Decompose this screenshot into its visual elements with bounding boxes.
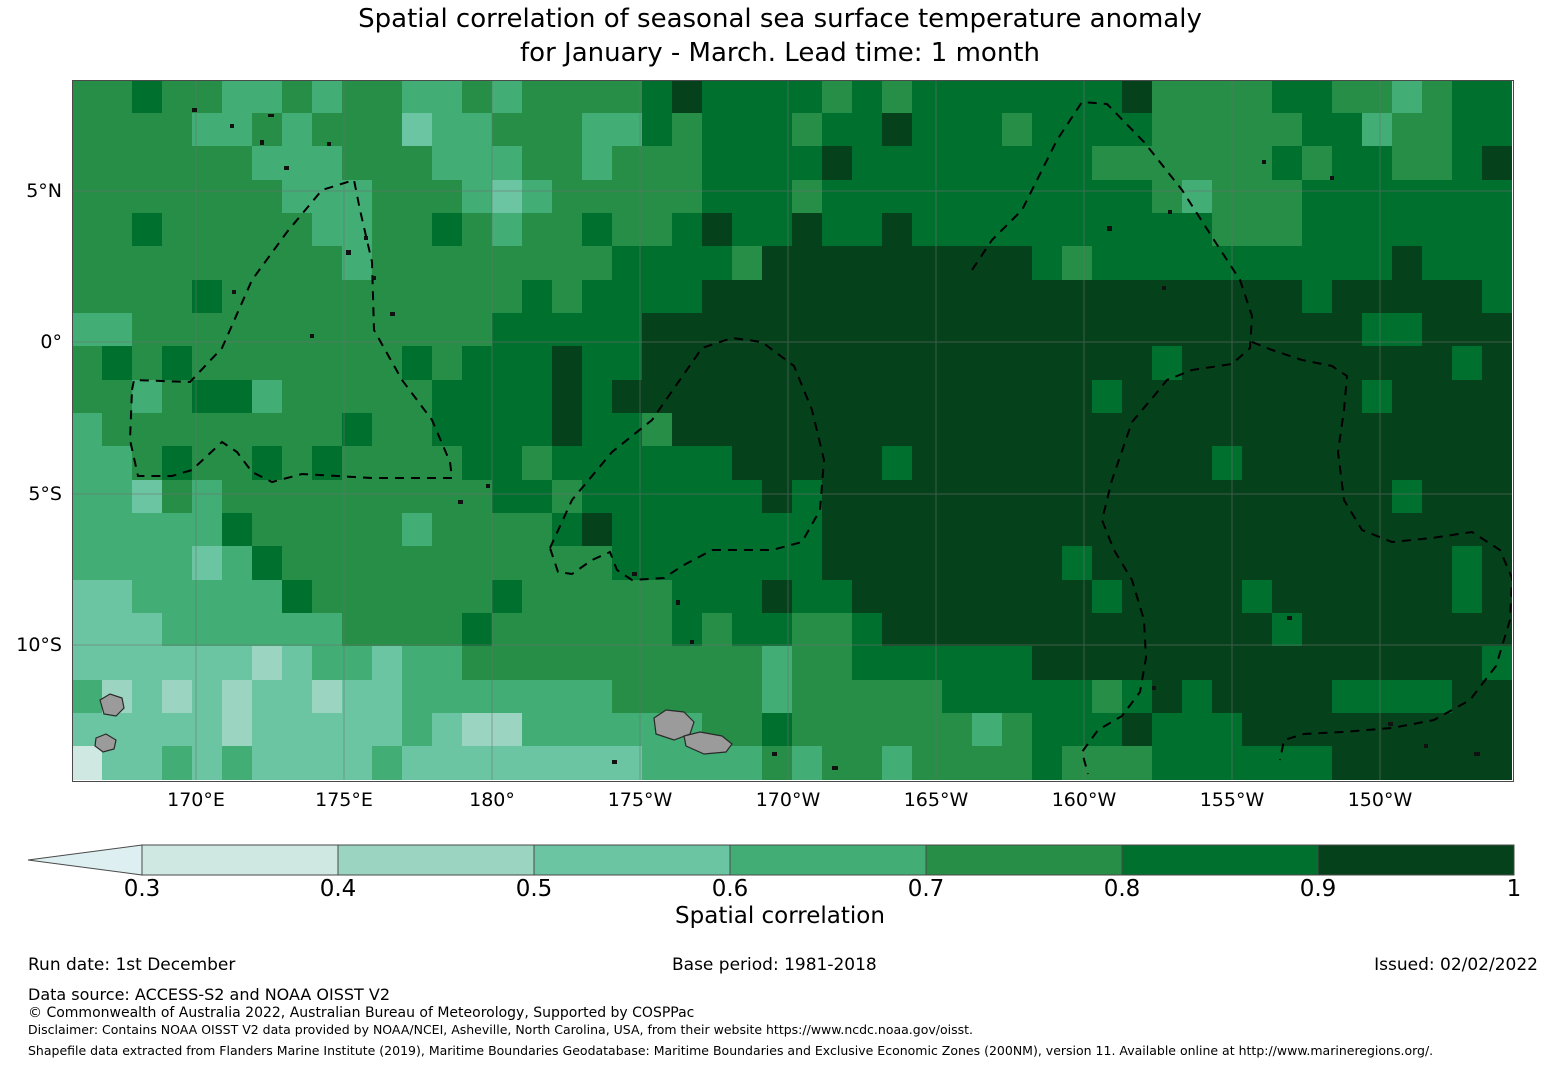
x-tick-label: 180° bbox=[469, 789, 515, 811]
colorbar-band bbox=[534, 845, 730, 875]
shapefile-attribution: Shapefile data extracted from Flanders M… bbox=[28, 1043, 1433, 1058]
correlation-raster bbox=[72, 80, 1512, 780]
colorbar-band bbox=[1318, 845, 1514, 875]
disclaimer-notice: Disclaimer: Contains NOAA OISST V2 data … bbox=[28, 1022, 973, 1037]
colorbar-tick-label: 0.8 bbox=[1104, 876, 1141, 902]
x-tick-label: 175°W bbox=[608, 789, 673, 811]
correlation-map bbox=[72, 80, 1512, 780]
issued-date: Issued: 02/02/2022 bbox=[1374, 955, 1538, 975]
colorbar-band bbox=[926, 845, 1122, 875]
colorbar-bands bbox=[28, 845, 1514, 875]
y-tick-label: 5°S bbox=[62, 483, 96, 505]
x-tick-label: 150°W bbox=[1348, 789, 1413, 811]
base-period: Base period: 1981-2018 bbox=[672, 955, 877, 975]
colorbar-tick-label: 1 bbox=[1507, 876, 1522, 902]
colorbar-band bbox=[142, 845, 338, 875]
page-title: Spatial correlation of seasonal sea surf… bbox=[0, 2, 1560, 70]
run-date: Run date: 1st December bbox=[28, 955, 235, 975]
colorbar-tick-label: 0.3 bbox=[124, 876, 161, 902]
colorbar-band bbox=[730, 845, 926, 875]
y-tick-label: 0° bbox=[62, 331, 84, 353]
y-tick-label: 10°S bbox=[62, 634, 108, 656]
colorbar-tick-label: 0.5 bbox=[516, 876, 553, 902]
colorbar-tick-label: 0.6 bbox=[712, 876, 749, 902]
data-source: Data source: ACCESS-S2 and NOAA OISST V2 bbox=[28, 985, 390, 1004]
x-tick-label: 170°W bbox=[756, 789, 821, 811]
colorbar-tick-label: 0.4 bbox=[320, 876, 357, 902]
x-tick-label: 165°W bbox=[904, 789, 969, 811]
x-tick-label: 175°E bbox=[315, 789, 373, 811]
colorbar-band bbox=[338, 845, 534, 875]
x-tick-label: 170°E bbox=[167, 789, 225, 811]
colorbar-band bbox=[1122, 845, 1318, 875]
copyright-notice: © Commonwealth of Australia 2022, Austra… bbox=[28, 1005, 694, 1021]
colorbar-tick-label: 0.9 bbox=[1300, 876, 1337, 902]
y-tick-label: 5°N bbox=[62, 180, 98, 202]
x-tick-label: 160°W bbox=[1052, 789, 1117, 811]
colorbar-under-arrow bbox=[28, 845, 142, 875]
colorbar-label: Spatial correlation bbox=[0, 903, 1560, 929]
x-tick-label: 155°W bbox=[1200, 789, 1265, 811]
colorbar-tick-label: 0.7 bbox=[908, 876, 945, 902]
